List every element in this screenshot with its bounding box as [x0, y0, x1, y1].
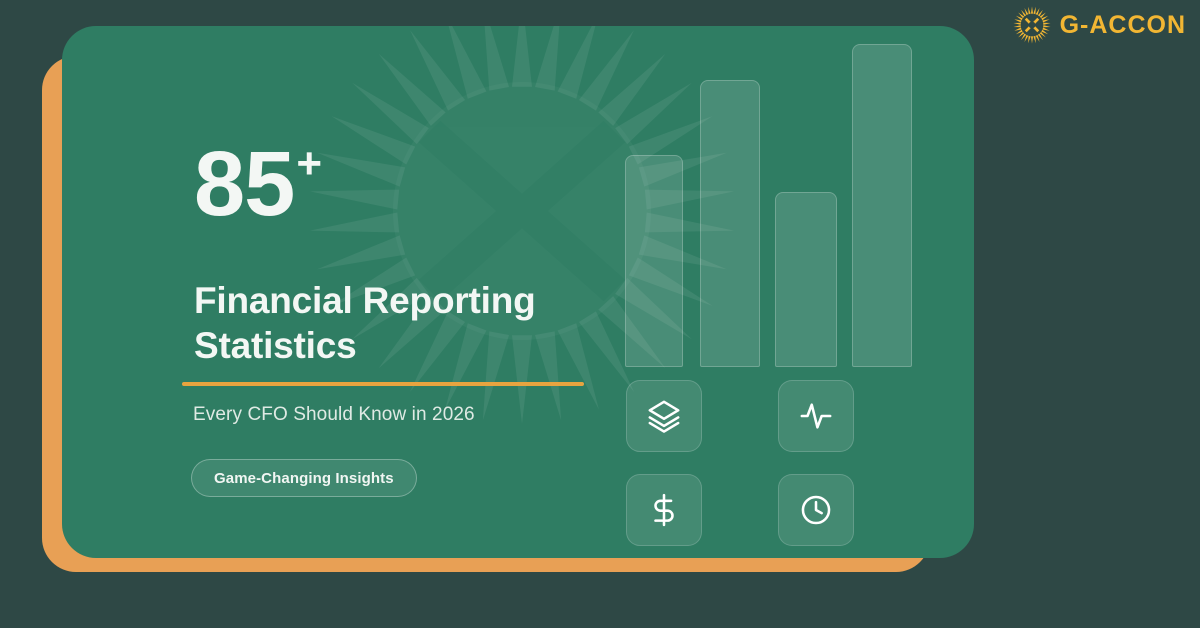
brand-name: G-ACCON: [1060, 11, 1186, 40]
tile-layers[interactable]: [626, 380, 702, 452]
tile-clock[interactable]: [778, 474, 854, 546]
sunburst-pinwheel-icon: [1013, 6, 1051, 44]
status-badge: Game-Changing Insights: [191, 459, 417, 497]
clock-icon: [799, 493, 833, 527]
accent-rule: [182, 382, 584, 386]
poster-canvas: G-ACCON: [0, 0, 1200, 628]
subtitle: Every CFO Should Know in 2026: [193, 404, 475, 426]
stat-number: 85+: [194, 138, 321, 230]
stat-suffix: +: [296, 142, 321, 186]
hero-card: 85+ Financial Reporting Statistics Every…: [62, 26, 974, 558]
stat-value: 85: [194, 138, 294, 230]
tile-activity[interactable]: [778, 380, 854, 452]
tile-dollar[interactable]: [626, 474, 702, 546]
dollar-icon: [647, 493, 681, 527]
activity-icon: [799, 399, 833, 433]
brand-logo: G-ACCON: [1013, 6, 1186, 44]
page-title: Financial Reporting Statistics: [194, 278, 624, 368]
layers-icon: [647, 399, 681, 433]
